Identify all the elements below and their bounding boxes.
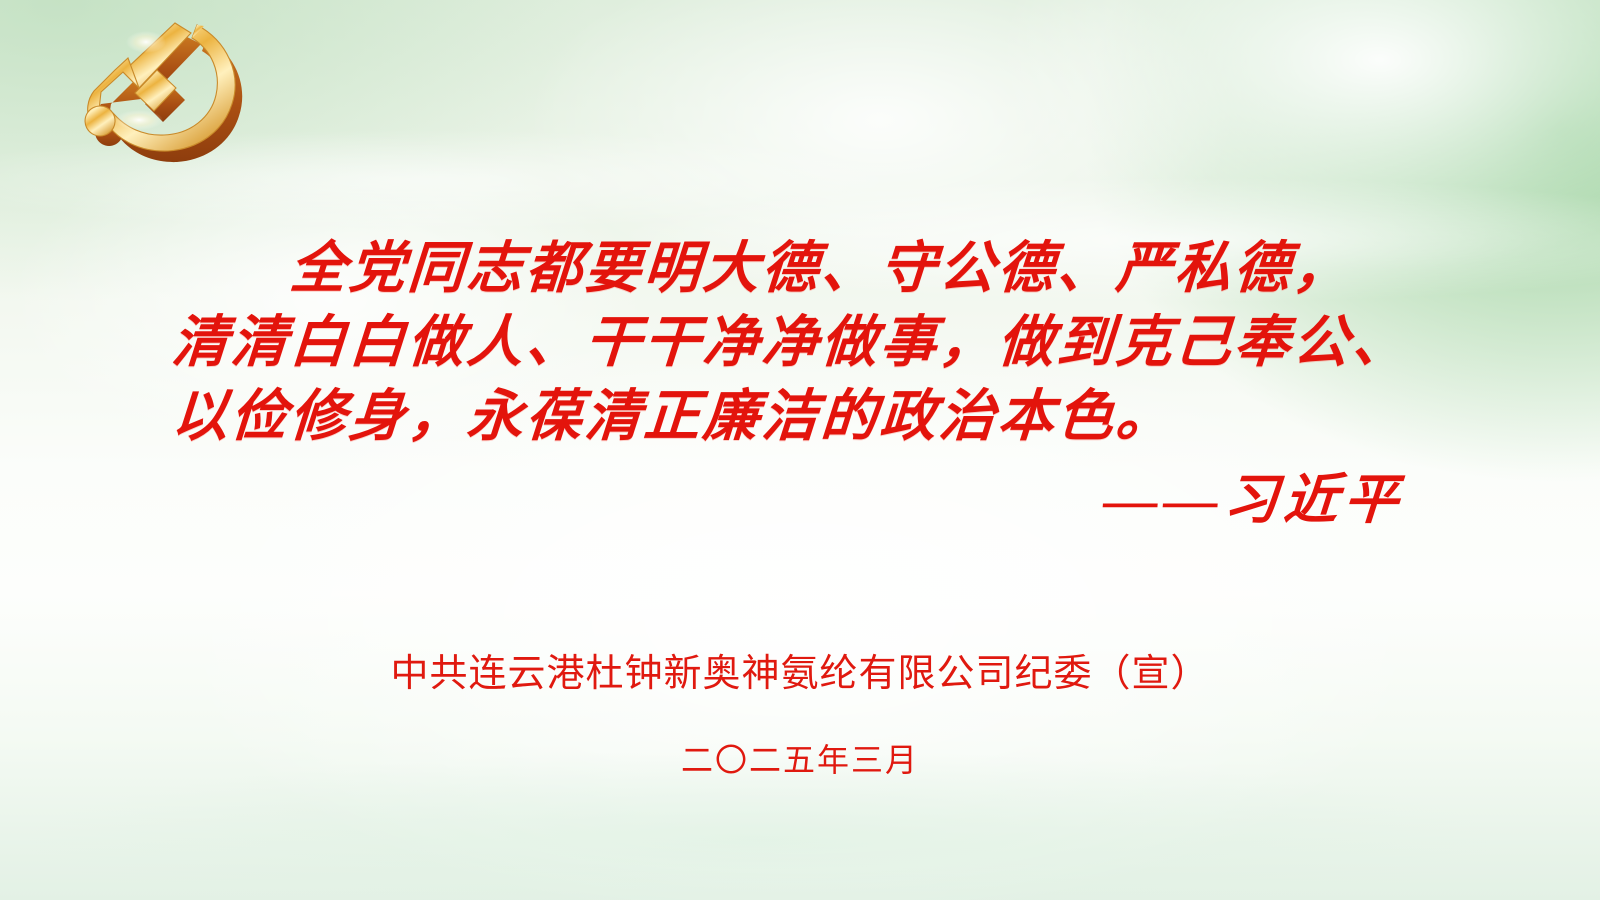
highlight-glint-top xyxy=(126,31,166,53)
footer-block: 中共连云港杜钟新奥神氨纶有限公司纪委（宣） 二〇二五年三月 xyxy=(0,648,1600,782)
hammer-knob xyxy=(85,106,115,136)
party-emblem xyxy=(84,22,260,174)
quote-block: 全党同志都要明大德、守公德、严私德， 清清白白做人、干干净净做事，做到克己奉公、… xyxy=(0,232,1600,532)
footer-date: 二〇二五年三月 xyxy=(0,738,1600,782)
quote-attribution: ——习近平 xyxy=(0,468,1600,532)
quote-line-1: 全党同志都要明大德、守公德、严私德， xyxy=(0,232,1600,306)
poster-canvas: 全党同志都要明大德、守公德、严私德， 清清白白做人、干干净净做事，做到克己奉公、… xyxy=(0,0,1600,900)
footer-organization: 中共连云港杜钟新奥神氨纶有限公司纪委（宣） xyxy=(0,648,1600,700)
quote-line-2: 清清白白做人、干干净净做事，做到克己奉公、 xyxy=(0,306,1600,380)
highlight-glint-bottom xyxy=(115,110,163,130)
quote-line-3: 以俭修身，永葆清正廉洁的政治本色。 xyxy=(0,380,1600,454)
